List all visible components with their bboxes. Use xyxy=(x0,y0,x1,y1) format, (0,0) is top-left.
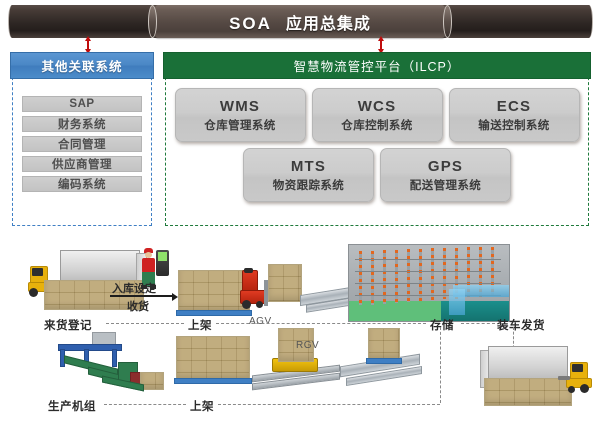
process-illustration: 入库设定 收货 AGV 来货 xyxy=(0,232,600,428)
banner-tube-left-segment xyxy=(8,5,161,38)
module-name: 仓库管理系统 xyxy=(204,117,275,133)
soa-banner: SOA应用总集成 xyxy=(0,5,600,38)
left-panel-header: 其他关联系统 xyxy=(10,52,154,79)
stage-label-putaway-1: 上架 xyxy=(188,317,212,333)
handheld-scanner-icon xyxy=(156,250,169,276)
banner-title-cn: 应用总集成 xyxy=(286,16,371,33)
flow-dash-5 xyxy=(218,404,440,405)
module-name: 配送管理系统 xyxy=(410,177,481,193)
module-card-mts[interactable]: MTS 物资跟踪系统 xyxy=(243,148,374,202)
module-card-wms[interactable]: WMS 仓库管理系统 xyxy=(175,88,306,142)
banner-cap-left-icon xyxy=(148,5,157,38)
process-arrow-label-bottom: 收货 xyxy=(127,298,149,314)
agv-label: AGV xyxy=(249,316,272,327)
list-item[interactable]: 财务系统 xyxy=(22,116,142,132)
module-row-1: WMS 仓库管理系统 WCS 仓库控制系统 ECS 输送控制系统 xyxy=(172,88,582,142)
rgv-label: RGV xyxy=(296,340,319,351)
cargo-stack-on-agv xyxy=(268,264,302,302)
banner-title: SOA应用总集成 xyxy=(229,10,371,34)
list-item[interactable]: SAP xyxy=(22,96,142,112)
forklift-icon-outbound xyxy=(558,360,596,396)
flow-dash-1 xyxy=(106,323,184,324)
banner-title-en: SOA xyxy=(229,14,272,33)
list-item[interactable]: 合同管理 xyxy=(22,136,142,152)
stage-label-receiving: 来货登记 xyxy=(44,317,92,333)
pallet-base-2 xyxy=(174,378,252,384)
flow-dash-2 xyxy=(216,323,426,324)
module-name: 物资跟踪系统 xyxy=(273,177,344,193)
stage-label-putaway-2: 上架 xyxy=(190,398,214,414)
module-name: 仓库控制系统 xyxy=(341,117,412,133)
module-abbr: GPS xyxy=(428,158,463,175)
banner-tube-right-segment xyxy=(440,5,593,38)
module-abbr: ECS xyxy=(497,98,531,115)
list-item[interactable]: 供应商管理 xyxy=(22,156,142,172)
cargo-stack-on-conveyor xyxy=(368,328,400,360)
warehouse-racking-scene xyxy=(348,244,510,322)
production-line-icon xyxy=(44,332,164,394)
banner-cap-right-icon xyxy=(443,5,452,38)
module-abbr: MTS xyxy=(291,158,326,175)
module-card-wcs[interactable]: WCS 仓库控制系统 xyxy=(312,88,443,142)
list-item[interactable]: 编码系统 xyxy=(22,176,142,192)
process-arrow-label-top: 入库设定 xyxy=(112,280,156,296)
module-card-gps[interactable]: GPS 配送管理系统 xyxy=(380,148,511,202)
left-panel-item-list: SAP 财务系统 合同管理 供应商管理 编码系统 xyxy=(22,96,142,192)
stage-label-production: 生产机组 xyxy=(48,398,96,414)
module-card-ecs[interactable]: ECS 输送控制系统 xyxy=(449,88,580,142)
module-row-2: MTS 物资跟踪系统 GPS 配送管理系统 xyxy=(172,148,582,202)
truck-trailer-icon-inbound xyxy=(60,250,140,284)
stage-label-storage: 存储 xyxy=(430,317,454,333)
pallet-base-3 xyxy=(366,358,402,364)
banner-tube-center-segment: SOA应用总集成 xyxy=(152,5,448,38)
flow-dash-4 xyxy=(104,404,186,405)
module-abbr: WCS xyxy=(358,98,397,115)
cargo-pallet-stack-2 xyxy=(176,336,250,380)
module-abbr: WMS xyxy=(220,98,260,115)
module-name: 输送控制系统 xyxy=(478,117,549,133)
flow-dash-vertical-storage xyxy=(440,327,441,403)
right-panel-header: 智慧物流管控平台（ILCP） xyxy=(163,52,591,79)
process-arrow-icon xyxy=(110,295,172,297)
flow-dash-3 xyxy=(461,323,495,324)
stage-label-shipping: 装车发货 xyxy=(497,317,545,333)
truck-trailer-icon-outbound xyxy=(488,346,568,382)
